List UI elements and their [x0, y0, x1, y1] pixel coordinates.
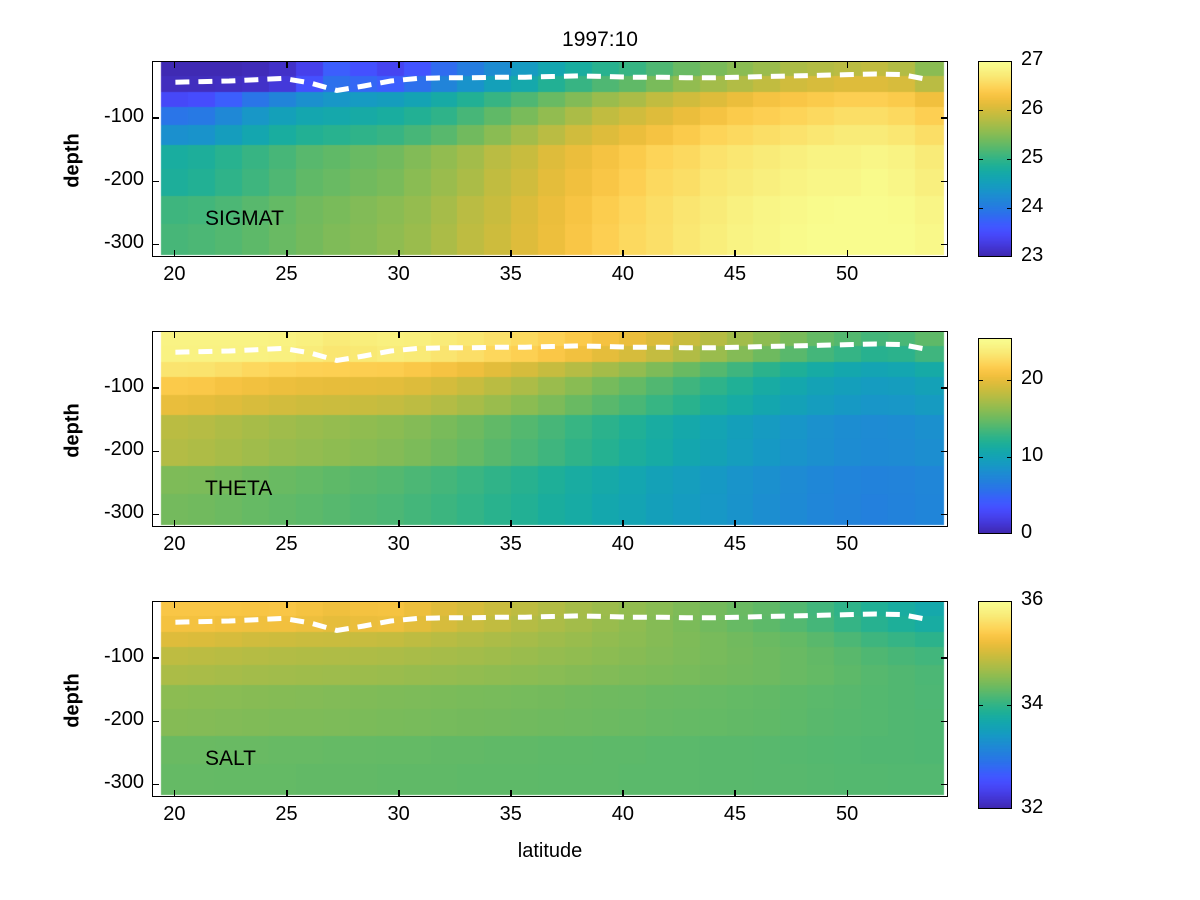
- y-tickmark: [152, 451, 159, 453]
- colorbar-tickmark: [978, 110, 983, 112]
- x-tickmark: [734, 250, 736, 257]
- x-tick-label: 40: [598, 533, 648, 556]
- x-tickmark: [286, 790, 288, 797]
- colorbar-tick-label: 25: [1021, 146, 1081, 169]
- x-tickmark: [398, 790, 400, 797]
- colorbar-tickmark: [978, 159, 983, 161]
- x-tickmark: [174, 331, 176, 338]
- colorbar-tickmark: [978, 705, 983, 707]
- x-tickmark: [174, 520, 176, 527]
- colorbar-gradient-theta: [979, 339, 1012, 534]
- y-tickmark: [941, 451, 948, 453]
- y-tickmark: [152, 721, 159, 723]
- x-tick-label: 35: [486, 803, 536, 826]
- panel-label-sigmat: SIGMAT: [205, 207, 284, 231]
- colorbar-tick-label: 26: [1021, 97, 1081, 120]
- figure-title: 1997:10: [0, 28, 1200, 52]
- colorbar-tickmark: [978, 208, 983, 210]
- x-tick-label: 45: [710, 263, 760, 286]
- x-tick-label: 30: [374, 803, 424, 826]
- y-tick-label: -100: [56, 645, 144, 668]
- x-tickmark: [622, 250, 624, 257]
- x-tickmark: [847, 61, 849, 68]
- colorbar-tick-label: 24: [1021, 195, 1081, 218]
- y-tickmark: [152, 657, 159, 659]
- panel-label-theta: THETA: [205, 477, 272, 501]
- y-tickmark: [941, 721, 948, 723]
- colorbar-tickmark: [1007, 208, 1012, 210]
- x-tickmark: [510, 61, 512, 68]
- y-tickmark: [941, 657, 948, 659]
- y-tickmark: [941, 244, 948, 246]
- y-tickmark: [152, 784, 159, 786]
- axes-salt[interactable]: [152, 601, 948, 797]
- y-tick-label: -300: [56, 231, 144, 254]
- x-tickmark: [734, 520, 736, 527]
- y-tick-label: -200: [56, 168, 144, 191]
- colorbar-tick-label: 23: [1021, 244, 1081, 267]
- x-tickmark: [847, 601, 849, 608]
- x-tickmark: [510, 601, 512, 608]
- x-tickmark: [847, 331, 849, 338]
- x-tickmark: [734, 601, 736, 608]
- y-tick-label: -200: [56, 438, 144, 461]
- x-tickmark: [398, 250, 400, 257]
- colorbar-theta[interactable]: [978, 338, 1012, 534]
- x-tick-label: 35: [486, 533, 536, 556]
- y-tickmark: [152, 244, 159, 246]
- x-tick-label: 20: [149, 533, 199, 556]
- figure-canvas: 1997:10 SIGMAT depth THETA depth SALT de…: [0, 0, 1200, 900]
- y-tickmark: [941, 784, 948, 786]
- x-tick-label: 45: [710, 803, 760, 826]
- y-tick-label: -100: [56, 375, 144, 398]
- y-tickmark: [941, 117, 948, 119]
- xlabel-latitude: latitude: [450, 840, 650, 863]
- colorbar-tickmark: [978, 457, 983, 459]
- y-tickmark: [941, 514, 948, 516]
- x-tickmark: [286, 250, 288, 257]
- colorbar-tick-label: 20: [1021, 367, 1081, 390]
- x-tickmark: [286, 601, 288, 608]
- x-tickmark: [734, 331, 736, 338]
- x-tickmark: [286, 520, 288, 527]
- x-tick-label: 45: [710, 533, 760, 556]
- x-tickmark: [510, 790, 512, 797]
- colorbar-tick-label: 27: [1021, 48, 1081, 71]
- panel-label-salt: SALT: [205, 747, 256, 771]
- y-tickmark: [152, 117, 159, 119]
- x-tickmark: [398, 61, 400, 68]
- y-tick-label: -100: [56, 105, 144, 128]
- x-tickmark: [398, 331, 400, 338]
- x-tick-label: 25: [262, 263, 312, 286]
- x-tickmark: [174, 601, 176, 608]
- x-tick-label: 20: [149, 263, 199, 286]
- colorbar-tick-label: 32: [1021, 796, 1081, 819]
- x-tickmark: [286, 61, 288, 68]
- x-tickmark: [734, 61, 736, 68]
- y-tick-label: -300: [56, 771, 144, 794]
- x-tickmark: [510, 520, 512, 527]
- colorbar-tick-label: 34: [1021, 692, 1081, 715]
- colorbar-tickmark: [1007, 159, 1012, 161]
- x-tick-label: 40: [598, 803, 648, 826]
- x-tick-label: 50: [822, 263, 872, 286]
- colorbar-tickmark: [1007, 457, 1012, 459]
- y-tick-label: -200: [56, 708, 144, 731]
- x-tickmark: [398, 601, 400, 608]
- y-tickmark: [152, 387, 159, 389]
- x-tickmark: [622, 61, 624, 68]
- x-tickmark: [174, 790, 176, 797]
- y-tickmark: [941, 181, 948, 183]
- x-tickmark: [398, 520, 400, 527]
- x-tickmark: [286, 331, 288, 338]
- x-tickmark: [622, 520, 624, 527]
- x-tick-label: 30: [374, 263, 424, 286]
- colorbar-tick-label: 36: [1021, 588, 1081, 611]
- y-tickmark: [152, 514, 159, 516]
- x-tick-label: 50: [822, 533, 872, 556]
- x-tick-label: 20: [149, 803, 199, 826]
- y-tick-label: -300: [56, 501, 144, 524]
- y-tickmark: [152, 181, 159, 183]
- x-tick-label: 25: [262, 533, 312, 556]
- colorbar-tick-label: 0: [1021, 521, 1081, 544]
- y-tickmark: [941, 387, 948, 389]
- x-tick-label: 50: [822, 803, 872, 826]
- mld-line-salt: [153, 602, 948, 797]
- colorbar-tickmark: [1007, 705, 1012, 707]
- x-tickmark: [622, 790, 624, 797]
- x-tickmark: [847, 520, 849, 527]
- colorbar-tickmark: [978, 380, 983, 382]
- x-tickmark: [622, 331, 624, 338]
- colorbar-tickmark: [1007, 380, 1012, 382]
- colorbar-tickmark: [1007, 110, 1012, 112]
- x-tickmark: [174, 61, 176, 68]
- x-tickmark: [622, 601, 624, 608]
- x-tickmark: [847, 250, 849, 257]
- x-tick-label: 40: [598, 263, 648, 286]
- x-tickmark: [174, 250, 176, 257]
- x-tickmark: [510, 331, 512, 338]
- x-tick-label: 25: [262, 803, 312, 826]
- x-tickmark: [847, 790, 849, 797]
- colorbar-tick-label: 10: [1021, 444, 1081, 467]
- x-tickmark: [510, 250, 512, 257]
- x-tick-label: 35: [486, 263, 536, 286]
- x-tick-label: 30: [374, 533, 424, 556]
- x-tickmark: [734, 790, 736, 797]
